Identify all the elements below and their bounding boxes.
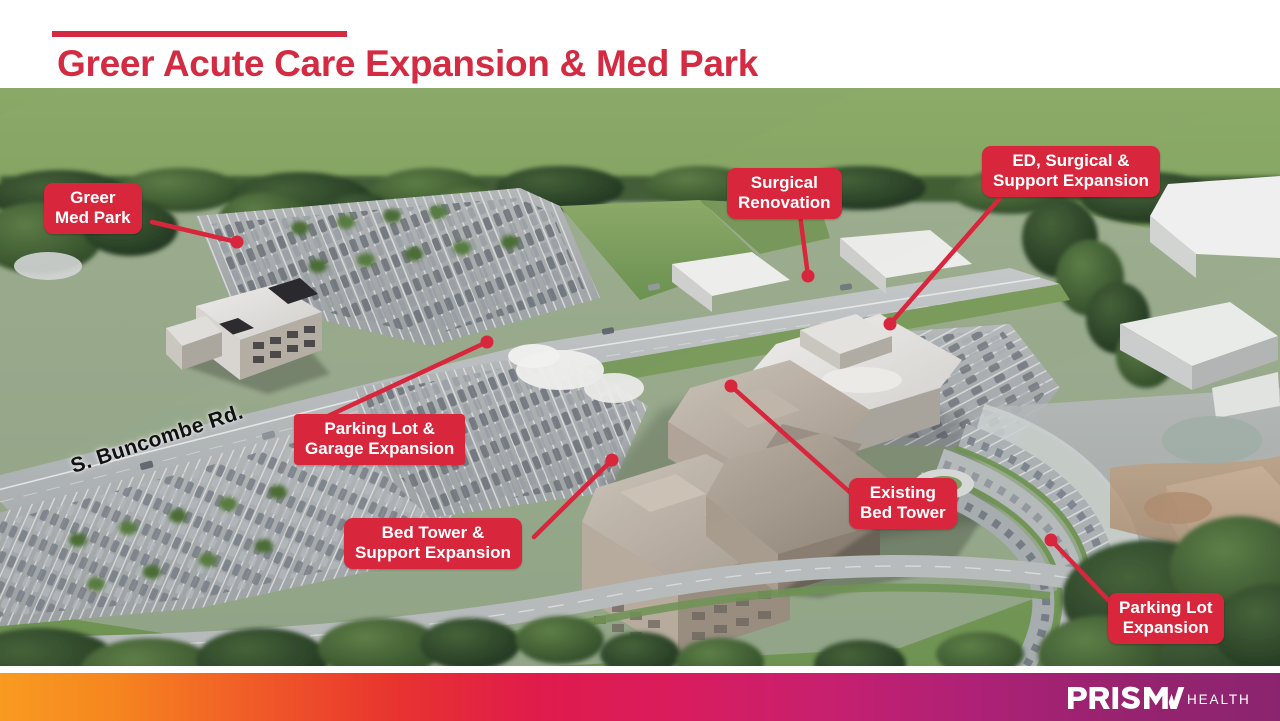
callout-parking-lot-expansion[interactable]: Parking Lot Expansion — [1108, 593, 1224, 644]
callout-line-2: Garage Expansion — [305, 439, 454, 459]
callout-line-1: Existing — [870, 483, 936, 502]
callout-line-1: Parking Lot & — [324, 419, 435, 438]
callout-line-1: ED, Surgical & — [1012, 151, 1129, 170]
footer-white-spacer — [0, 666, 1280, 673]
title-accent-rule — [52, 31, 347, 37]
callout-bed-tower-support-expansion[interactable]: Bed Tower & Support Expansion — [344, 518, 522, 569]
callout-line-2: Med Park — [55, 208, 131, 228]
callout-line-2: Bed Tower — [860, 503, 946, 523]
callout-line-2: Support Expansion — [993, 171, 1149, 191]
callout-existing-bed-tower[interactable]: Existing Bed Tower — [849, 478, 957, 529]
logo-health-text: HEALTH — [1187, 692, 1251, 707]
callout-line-1: Greer — [70, 188, 115, 207]
callout-line-1: Bed Tower & — [382, 523, 485, 542]
page-title: Greer Acute Care Expansion & Med Park — [57, 43, 758, 85]
title-band: Greer Acute Care Expansion & Med Park — [0, 0, 1280, 88]
callout-line-1: Surgical — [751, 173, 818, 192]
callout-greer-med-park[interactable]: Greer Med Park — [44, 183, 142, 234]
callout-line-2: Expansion — [1119, 618, 1213, 638]
callout-surgical-renovation[interactable]: Surgical Renovation — [727, 168, 842, 219]
callout-parking-lot-garage-expansion[interactable]: Parking Lot & Garage Expansion — [294, 414, 465, 465]
callout-ed-surgical-support-expansion[interactable]: ED, Surgical & Support Expansion — [982, 146, 1160, 197]
callout-line-2: Renovation — [738, 193, 831, 213]
callout-line-1: Parking Lot — [1119, 598, 1213, 617]
slide-root: Greer Acute Care Expansion & Med Park — [0, 0, 1280, 721]
prisma-health-logo: HEALTH — [1066, 685, 1256, 711]
callout-line-2: Support Expansion — [355, 543, 511, 563]
